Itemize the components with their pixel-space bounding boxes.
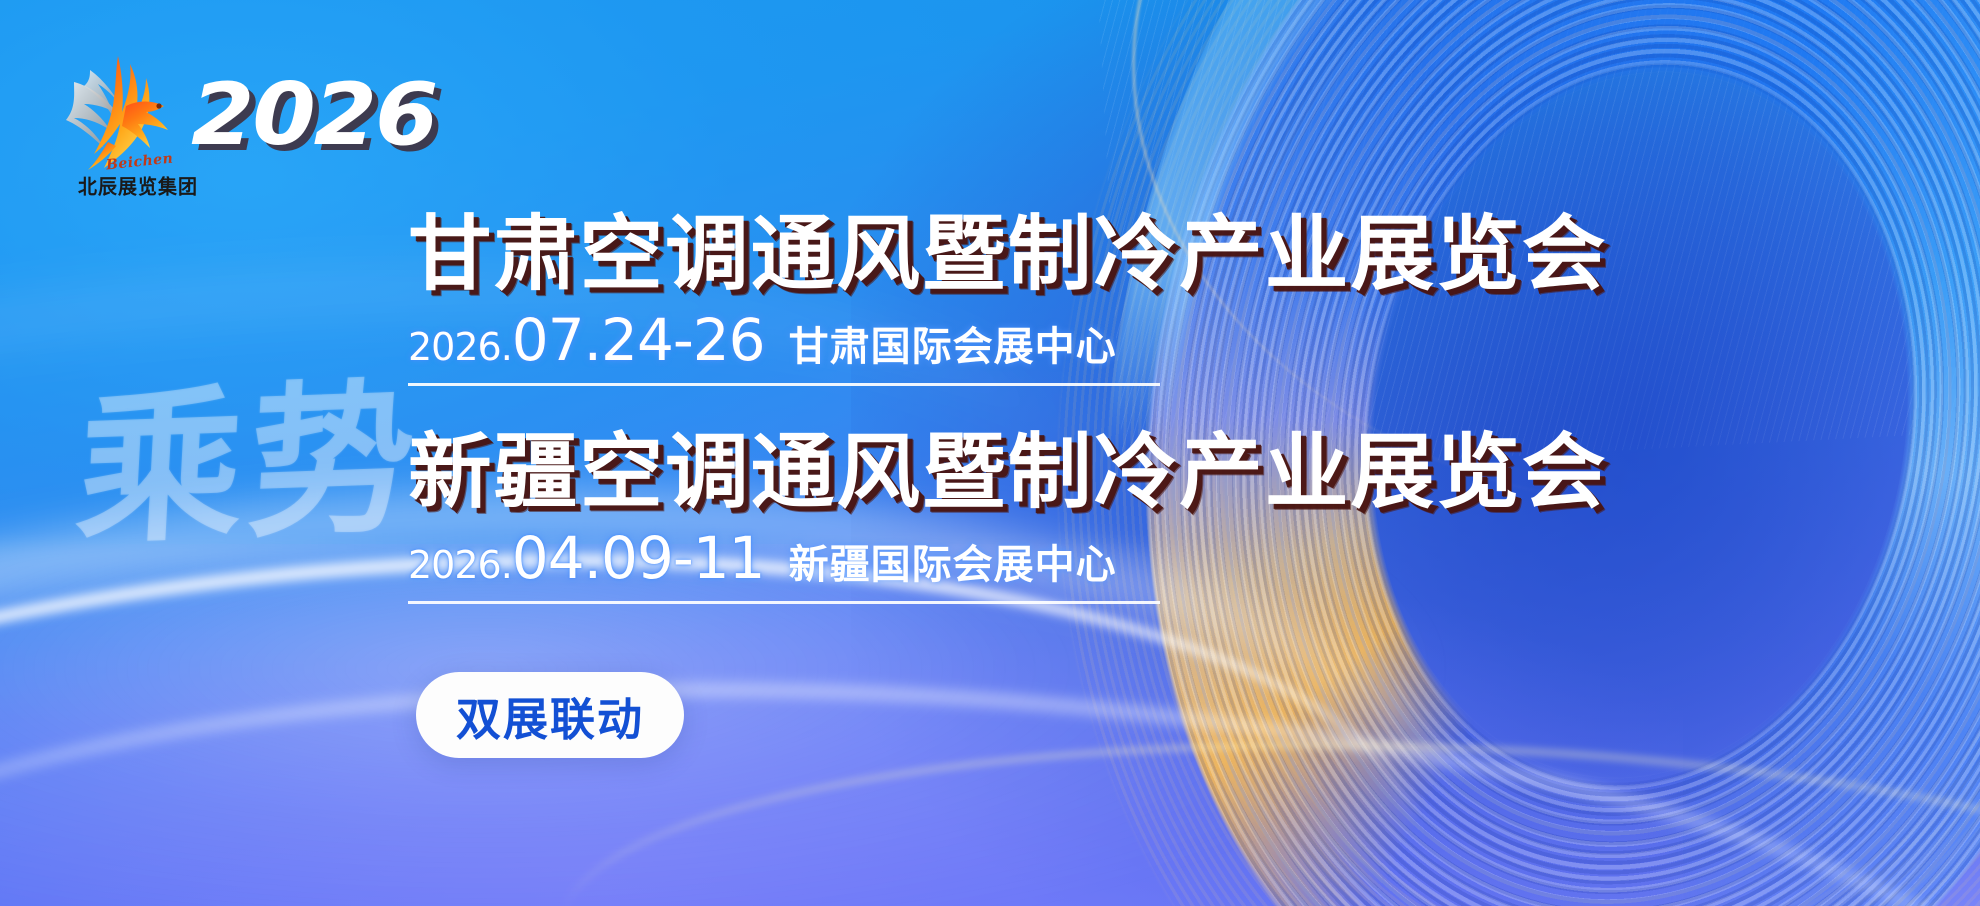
expo-venue-xinjiang: 新疆国际会展中心 bbox=[789, 532, 1117, 590]
brand-logo-block: Beichen 北辰展览集团 2026 bbox=[60, 50, 360, 200]
expo-meta-xinjiang: 2026. 04.09-11 新疆国际会展中心 bbox=[408, 524, 1160, 604]
expo-meta-gansu: 2026. 07.24-26 甘肃国际会展中心 bbox=[408, 306, 1160, 386]
expo-year-gansu: 2026. bbox=[408, 325, 512, 369]
expo-venue-gansu: 甘肃国际会展中心 bbox=[789, 314, 1117, 372]
expo-date-xinjiang: 04.09-11 bbox=[512, 524, 765, 592]
dual-expo-badge[interactable]: 双展联动 bbox=[416, 672, 684, 758]
logo-year-label: 2026 bbox=[191, 72, 436, 158]
expo-year-xinjiang: 2026. bbox=[408, 543, 512, 587]
dual-expo-badge-label: 双展联动 bbox=[456, 683, 644, 748]
content-spacer bbox=[408, 386, 1608, 430]
expo-date-gansu: 07.24-26 bbox=[512, 306, 765, 374]
expo-title-gansu: 甘肃空调通风暨制冷产业展览会 bbox=[408, 212, 1632, 298]
calligraphy-watermark: 乘势 bbox=[73, 376, 412, 552]
expo-title-xinjiang: 新疆空调通风暨制冷产业展览会 bbox=[408, 430, 1632, 516]
logo-company-name: 北辰展览集团 bbox=[78, 171, 198, 199]
expo-content: 甘肃空调通风暨制冷产业展览会 2026. 07.24-26 甘肃国际会展中心 新… bbox=[408, 212, 1608, 604]
exhibition-banner: 乘势 bbox=[0, 0, 1980, 906]
